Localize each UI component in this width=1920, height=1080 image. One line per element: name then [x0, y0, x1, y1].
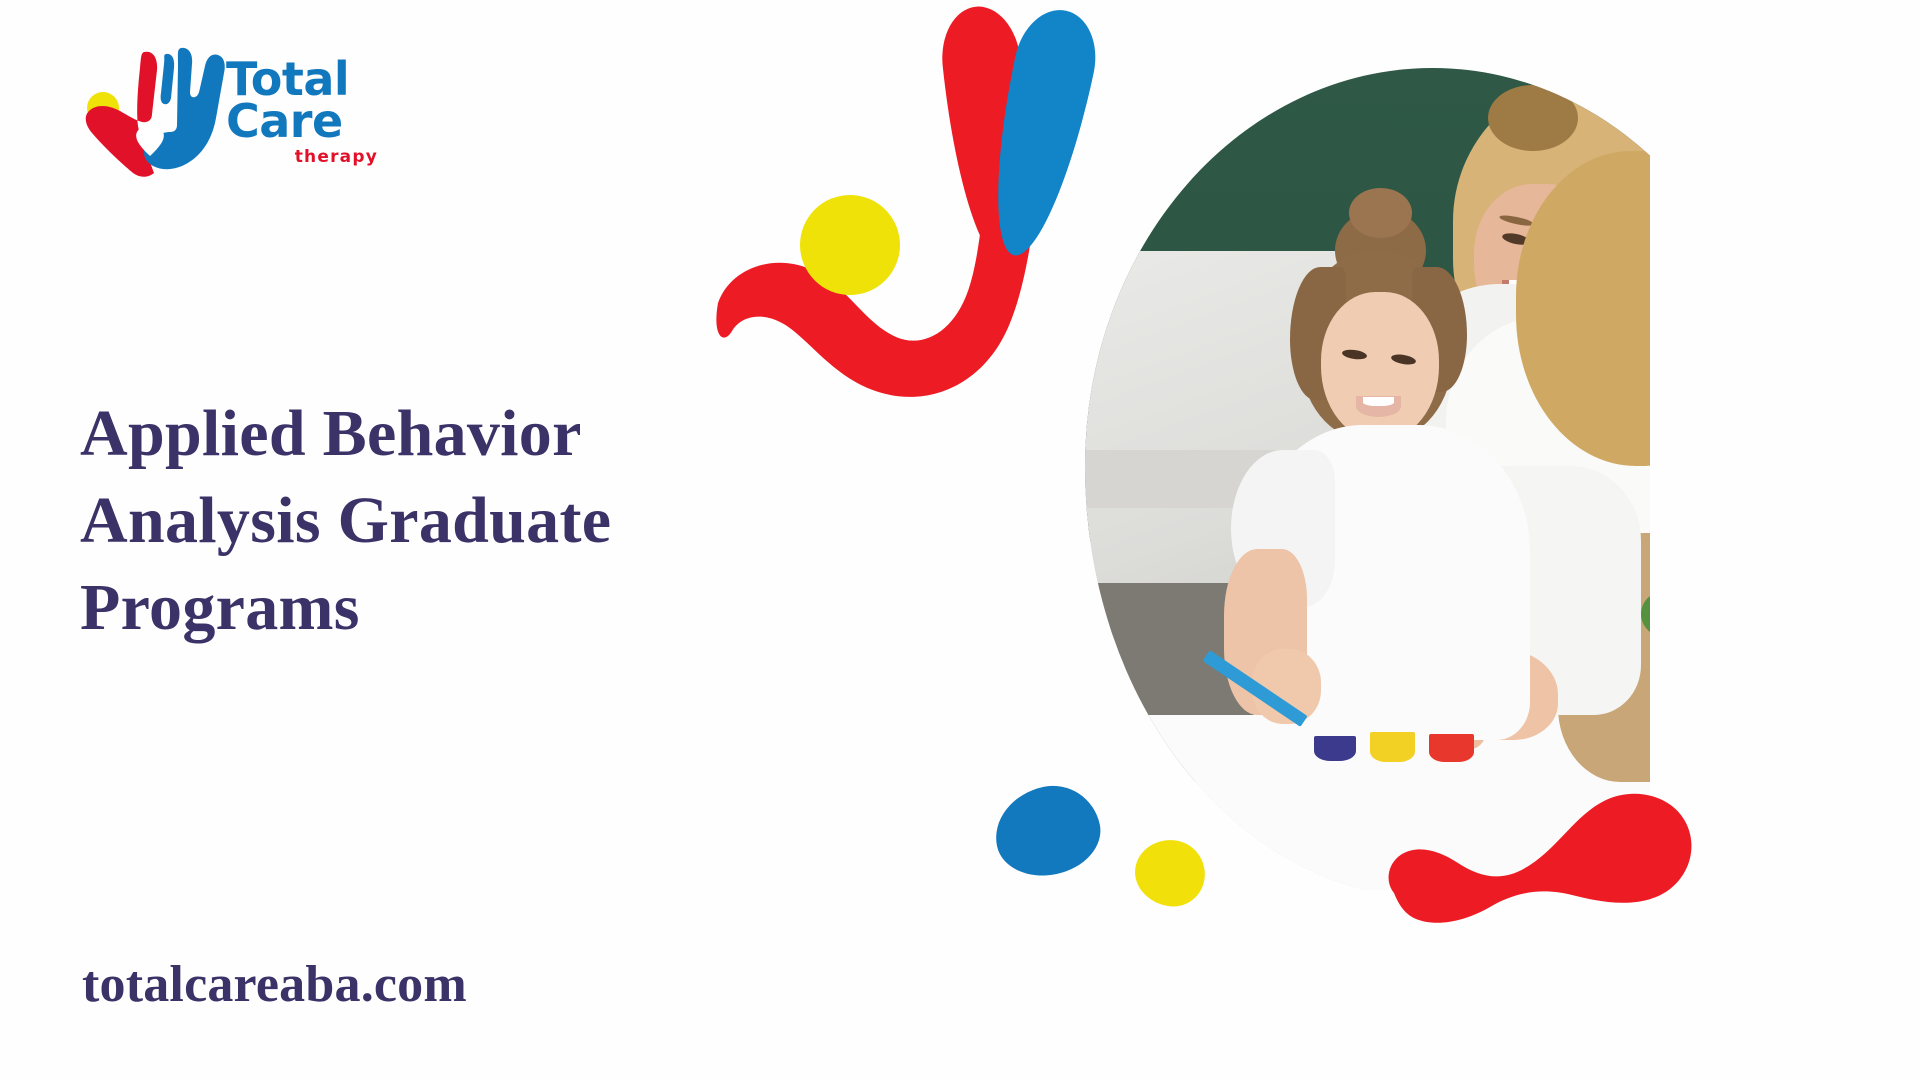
teacher-hair-dark [1488, 85, 1578, 151]
site-url[interactable]: totalcareaba.com [82, 955, 467, 1014]
paint-pot-yellow [1370, 732, 1415, 762]
girl-hair-bun-top [1349, 188, 1412, 238]
hero-photo [950, 60, 1650, 890]
brand-logo[interactable]: Total Care therapy [78, 46, 398, 186]
brand-tagline: therapy [226, 147, 378, 167]
hero-artwork [850, 0, 1920, 1080]
page-title: Applied Behavior Analysis Graduate Progr… [80, 390, 800, 651]
brand-word-care: Care [226, 100, 401, 142]
total-care-hands-icon [78, 46, 228, 178]
paint-pot-red [1429, 734, 1474, 762]
poster-canvas: Total Care therapy Applied Behavior Anal… [0, 0, 1920, 1080]
hero-photo-circle-mask [1085, 68, 1650, 890]
girl-teeth [1363, 397, 1394, 406]
brand-wordmark: Total Care therapy [226, 58, 401, 178]
yellow-dot-shape [800, 195, 900, 295]
paint-pot-purple [1314, 736, 1356, 761]
girl-face [1321, 292, 1439, 441]
red-spoon-shape [1380, 785, 1695, 930]
